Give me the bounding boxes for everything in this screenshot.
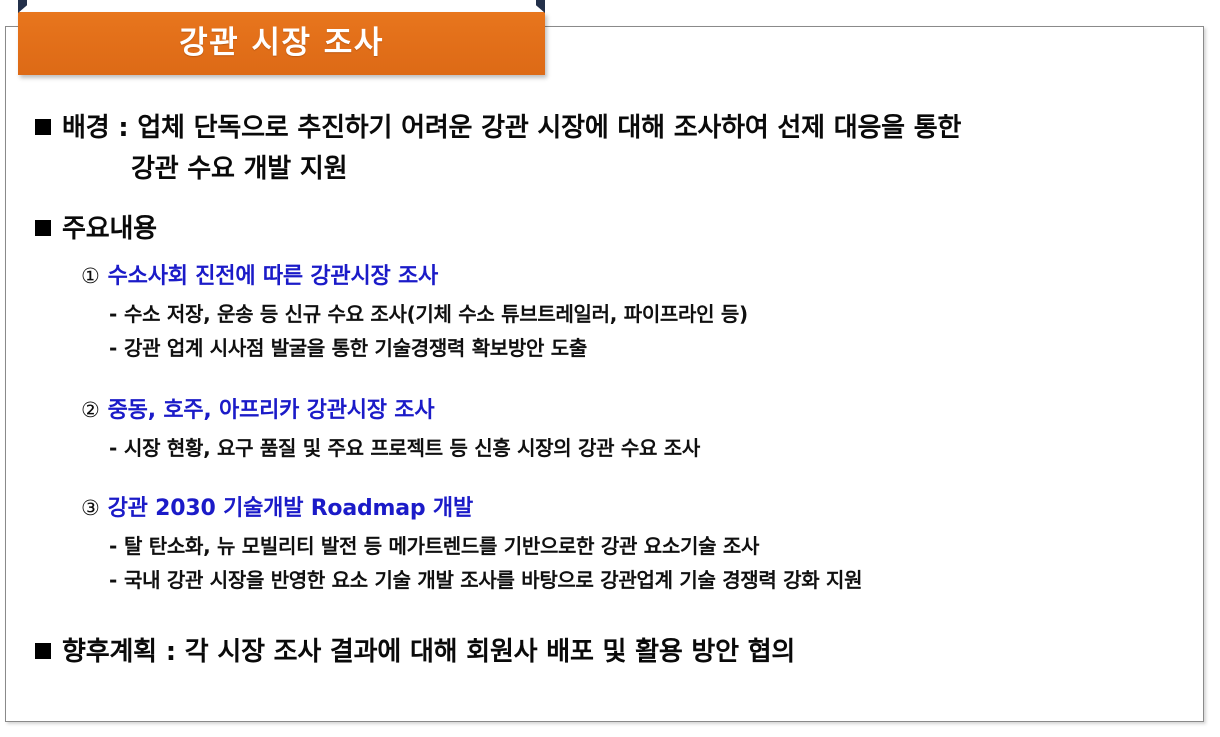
numbered-item-3-bullet-1: -탈 탄소화, 뉴 모빌리티 발전 등 메가트렌드를 기반으로한 강관 요소기술… xyxy=(109,530,759,559)
future-plan-text: 향후계획 : 각 시장 조사 결과에 대해 회원사 배포 및 활용 방안 협의 xyxy=(62,637,795,667)
dash-bullet-icon: - xyxy=(109,568,117,592)
background-heading-text: 배경 : 업체 단독으로 추진하기 어려운 강관 시장에 대해 조사하여 선제 … xyxy=(62,113,961,143)
numbered-item-1-bullet-1-text: 수소 저장, 운송 등 신규 수요 조사(기체 수소 튜브트레일러, 파이프라인… xyxy=(124,302,748,326)
circled-number-2-icon: ② xyxy=(81,398,100,422)
background-heading-line2: 강관 수요 개발 지원 xyxy=(131,148,347,185)
numbered-item-2-title: ②중동, 호주, 아프리카 강관시장 조사 xyxy=(81,392,434,424)
dash-bullet-icon: - xyxy=(109,302,117,326)
square-bullet-icon xyxy=(35,220,51,236)
numbered-item-1-bullet-1: -수소 저장, 운송 등 신규 수요 조사(기체 수소 튜브트레일러, 파이프라… xyxy=(109,298,748,327)
numbered-item-1-title-text: 수소사회 진전에 따른 강관시장 조사 xyxy=(108,264,438,289)
numbered-item-1-bullet-2-text: 강관 업계 시사점 발굴을 통한 기술경쟁력 확보방안 도출 xyxy=(124,336,587,360)
numbered-item-1-title: ①수소사회 진전에 따른 강관시장 조사 xyxy=(81,258,438,290)
future-plan-heading: 향후계획 : 각 시장 조사 결과에 대해 회원사 배포 및 활용 방안 협의 xyxy=(35,631,795,668)
numbered-item-3-title-text: 강관 2030 기술개발 Roadmap 개발 xyxy=(108,496,473,521)
numbered-item-2-title-text: 중동, 호주, 아프리카 강관시장 조사 xyxy=(108,398,435,423)
slide-body: 배경 : 업체 단독으로 추진하기 어려운 강관 시장에 대해 조사하여 선제 … xyxy=(5,26,1204,722)
background-heading-continuation-text: 강관 수요 개발 지원 xyxy=(131,154,347,184)
dash-bullet-icon: - xyxy=(109,436,117,460)
circled-number-3-icon: ③ xyxy=(81,496,100,520)
circled-number-1-icon: ① xyxy=(81,264,100,288)
main-contents-heading-text: 주요내용 xyxy=(62,214,157,244)
dash-bullet-icon: - xyxy=(109,336,117,360)
numbered-item-2-bullet-1-text: 시장 현황, 요구 품질 및 주요 프로젝트 등 신흥 시장의 강관 수요 조사 xyxy=(124,436,700,460)
square-bullet-icon xyxy=(35,119,51,135)
background-heading-line1: 배경 : 업체 단독으로 추진하기 어려운 강관 시장에 대해 조사하여 선제 … xyxy=(35,107,961,144)
slide-canvas: 강관 시장 조사 배경 : 업체 단독으로 추진하기 어려운 강관 시장에 대해… xyxy=(0,0,1220,737)
square-bullet-icon xyxy=(35,643,51,659)
slide-title-text: 강관 시장 조사 xyxy=(179,28,384,59)
numbered-item-2-bullet-1: -시장 현황, 요구 품질 및 주요 프로젝트 등 신흥 시장의 강관 수요 조… xyxy=(109,432,700,461)
dash-bullet-icon: - xyxy=(109,534,117,558)
main-contents-heading: 주요내용 xyxy=(35,208,157,245)
numbered-item-3-bullet-2: -국내 강관 시장을 반영한 요소 기술 개발 조사를 바탕으로 강관업계 기술… xyxy=(109,564,862,593)
numbered-item-1-bullet-2: -강관 업계 시사점 발굴을 통한 기술경쟁력 확보방안 도출 xyxy=(109,332,587,361)
slide-title-banner: 강관 시장 조사 xyxy=(18,12,545,75)
numbered-item-3-bullet-1-text: 탈 탄소화, 뉴 모빌리티 발전 등 메가트렌드를 기반으로한 강관 요소기술 … xyxy=(124,534,759,558)
numbered-item-3-bullet-2-text: 국내 강관 시장을 반영한 요소 기술 개발 조사를 바탕으로 강관업계 기술 … xyxy=(124,568,862,592)
numbered-item-3-title: ③강관 2030 기술개발 Roadmap 개발 xyxy=(81,490,473,522)
